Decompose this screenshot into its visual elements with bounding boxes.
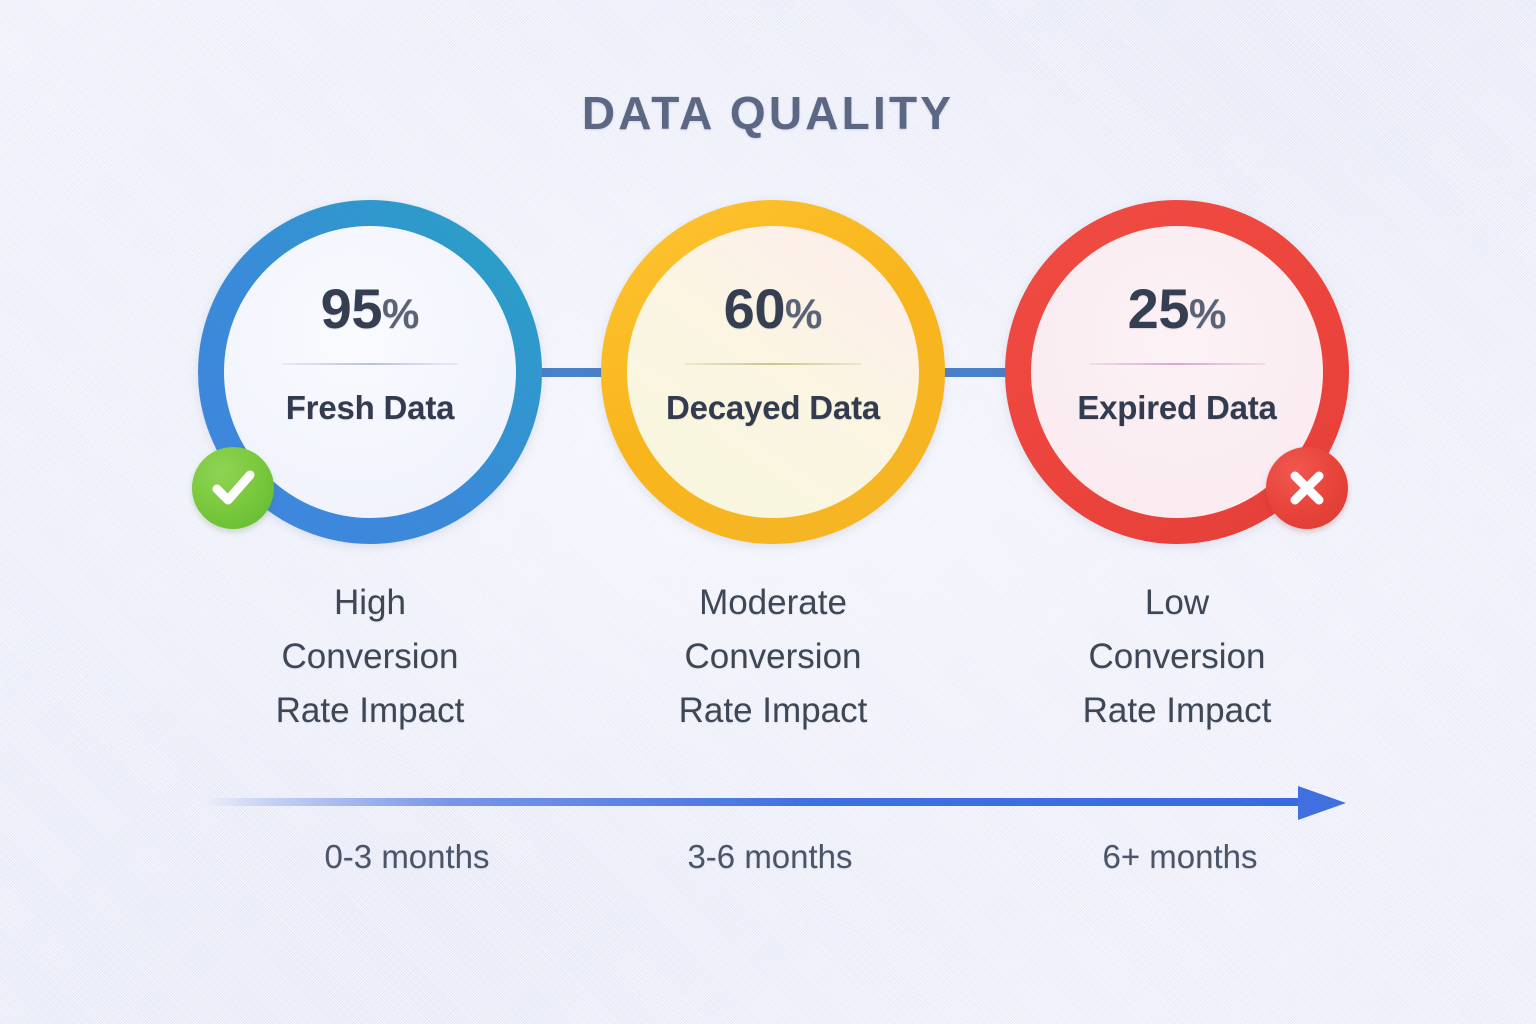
stage-label-fresh: Fresh Data <box>286 389 455 427</box>
stage-circle-decayed[interactable]: 60% Decayed Data <box>601 200 945 544</box>
percent-value-expired: 25% <box>1128 281 1227 337</box>
timeline-label-2: 3-6 months <box>590 838 950 876</box>
caption-line: Rate Impact <box>190 684 550 738</box>
timeline-label-3: 6+ months <box>1000 838 1360 876</box>
timeline-axis <box>205 798 1315 806</box>
caption-expired: Low Conversion Rate Impact <box>997 576 1357 738</box>
caption-line: Moderate <box>593 576 953 630</box>
caption-line: Rate Impact <box>997 684 1357 738</box>
arrow-right-icon <box>1298 786 1346 820</box>
caption-decayed: Moderate Conversion Rate Impact <box>593 576 953 738</box>
caption-line: High <box>190 576 550 630</box>
timeline-label-1: 0-3 months <box>227 838 587 876</box>
caption-line: Rate Impact <box>593 684 953 738</box>
stage-circle-content-decayed: 60% Decayed Data <box>601 200 945 544</box>
percent-value-decayed: 60% <box>724 281 823 337</box>
caption-line: Low <box>997 576 1357 630</box>
page-title: DATA QUALITY <box>0 86 1536 140</box>
cross-glyph <box>1284 465 1330 511</box>
caption-fresh: High Conversion Rate Impact <box>190 576 550 738</box>
divider-fresh <box>282 363 458 365</box>
infographic-canvas: DATA QUALITY 95% Fresh Data <box>0 0 1536 1024</box>
check-glyph <box>207 462 259 514</box>
caption-line: Conversion <box>997 630 1357 684</box>
cross-icon <box>1266 447 1348 529</box>
divider-decayed <box>685 363 861 365</box>
percent-value-fresh: 95% <box>321 281 420 337</box>
divider-expired <box>1089 363 1265 365</box>
caption-line: Conversion <box>190 630 550 684</box>
stage-label-decayed: Decayed Data <box>666 389 880 427</box>
stage-label-expired: Expired Data <box>1077 389 1276 427</box>
check-icon <box>192 447 274 529</box>
caption-line: Conversion <box>593 630 953 684</box>
